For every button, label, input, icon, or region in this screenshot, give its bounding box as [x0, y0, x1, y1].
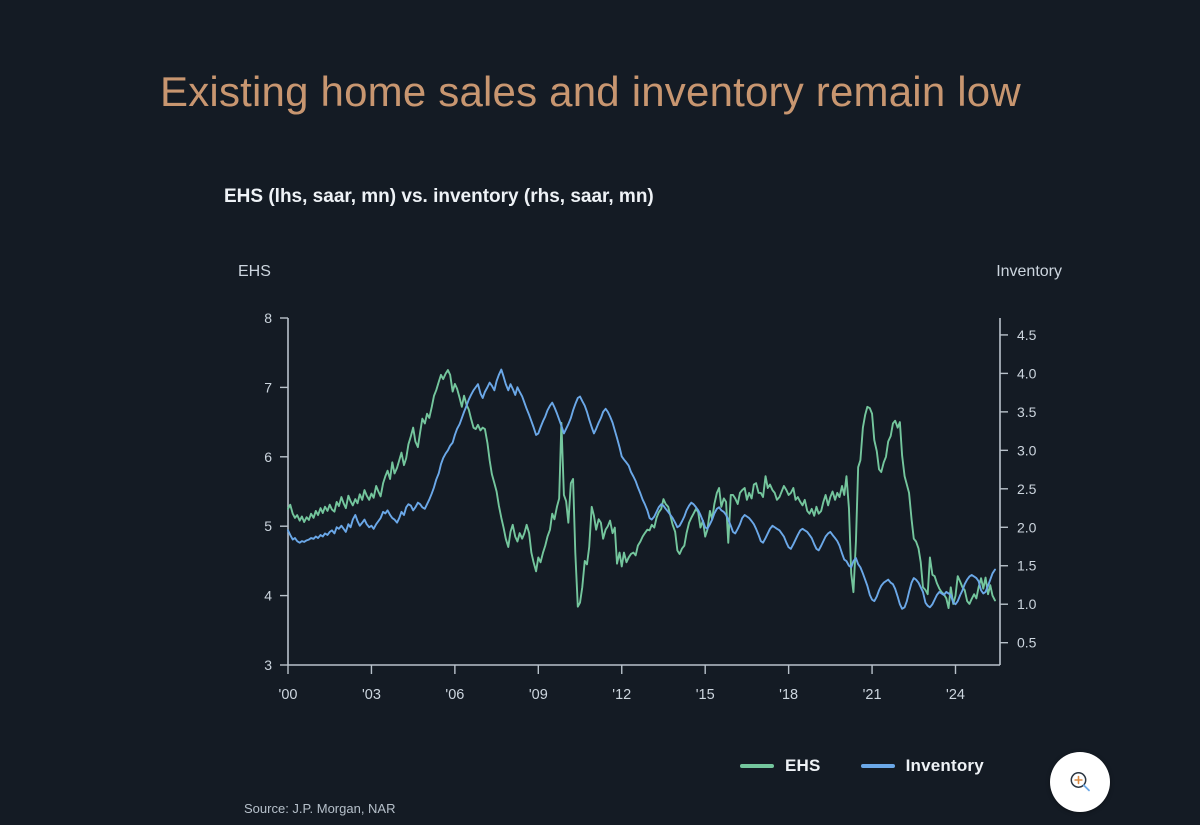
x-axis-tick-label: '21 [863, 687, 882, 703]
right-axis-tick-label: 3.5 [1017, 404, 1037, 420]
zoom-in-button[interactable] [1050, 752, 1110, 812]
right-axis-tick-label: 3.0 [1017, 442, 1037, 458]
axis-layer: 3456780.51.01.52.02.53.03.54.04.5'00'03'… [264, 310, 1036, 703]
legend-swatch-ehs [740, 764, 774, 768]
right-axis-tick-label: 0.5 [1017, 635, 1037, 651]
x-axis-tick-label: '12 [612, 687, 631, 703]
legend-swatch-inventory [861, 764, 895, 768]
legend-item-ehs[interactable]: EHS [740, 756, 821, 776]
source-note: Source: J.P. Morgan, NAR [244, 801, 396, 816]
slide-canvas: Existing home sales and inventory remain… [0, 0, 1200, 825]
right-axis-tick-label: 2.5 [1017, 481, 1037, 497]
x-axis-tick-label: '06 [445, 687, 464, 703]
legend-item-inventory[interactable]: Inventory [861, 756, 984, 776]
left-axis-tick-label: 3 [264, 657, 272, 673]
left-axis-tick-label: 5 [264, 518, 272, 534]
right-axis-tick-label: 2.0 [1017, 519, 1037, 535]
right-axis-tick-label: 4.0 [1017, 365, 1037, 381]
left-axis-tick-label: 6 [264, 449, 272, 465]
right-axis-tick-label: 1.0 [1017, 596, 1037, 612]
legend-label: EHS [785, 756, 821, 776]
x-axis-tick-label: '15 [696, 687, 715, 703]
x-axis-tick-label: '24 [946, 687, 965, 703]
x-axis-tick-label: '03 [362, 687, 381, 703]
right-axis-tick-label: 1.5 [1017, 558, 1037, 574]
right-axis-tick-label: 4.5 [1017, 327, 1037, 343]
left-axis-tick-label: 8 [264, 310, 272, 326]
legend-label: Inventory [906, 756, 984, 776]
series-layer [288, 370, 995, 609]
x-axis-tick-label: '09 [529, 687, 548, 703]
x-axis-tick-label: '00 [279, 687, 298, 703]
x-axis-tick-label: '18 [779, 687, 798, 703]
left-axis-tick-label: 7 [264, 379, 272, 395]
series-line-ehs [288, 370, 995, 608]
chart-legend: EHSInventory [740, 756, 984, 776]
chart-plot-area: 3456780.51.01.52.02.53.03.54.04.5'00'03'… [0, 0, 1200, 825]
left-axis-tick-label: 4 [264, 588, 272, 604]
magnifier-plus-icon [1065, 767, 1095, 797]
series-line-inventory [288, 370, 995, 609]
